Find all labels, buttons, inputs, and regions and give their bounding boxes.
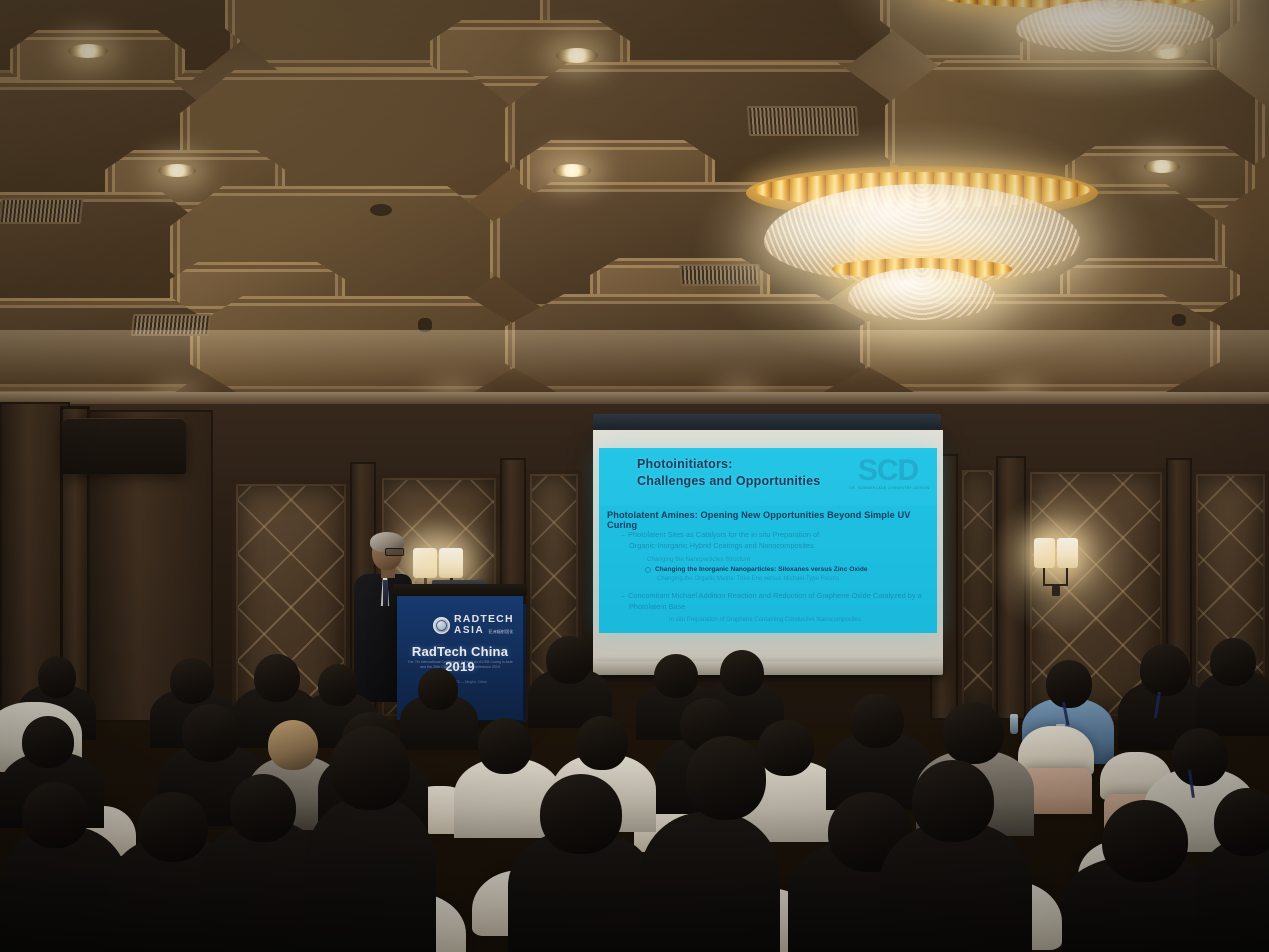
audience-head bbox=[942, 702, 1004, 764]
ceiling-vent bbox=[0, 198, 83, 224]
screen-surface: Photoinitiators: Challenges and Opportun… bbox=[593, 430, 943, 667]
audience bbox=[0, 640, 1269, 952]
ceiling-downlight bbox=[68, 44, 108, 58]
audience-head bbox=[912, 760, 994, 842]
ceiling-downlight bbox=[158, 164, 196, 177]
audience-head bbox=[576, 716, 628, 770]
ceiling-dome-speaker bbox=[1172, 314, 1186, 326]
wall-sconce bbox=[1032, 530, 1090, 600]
audience-head bbox=[1172, 728, 1228, 786]
presenter-logo: SCD DR. SOMMERLADE CHEMISTRY DESIGN bbox=[849, 456, 927, 498]
audience-head bbox=[686, 736, 766, 820]
audience-head bbox=[254, 654, 300, 702]
audience-head bbox=[478, 718, 532, 774]
logo-radtech-text: RADTECH bbox=[454, 614, 514, 625]
audience-head bbox=[654, 654, 698, 698]
ceiling-dome-speaker bbox=[370, 204, 392, 216]
pa-speaker bbox=[62, 418, 186, 474]
eyeglasses-icon bbox=[385, 548, 404, 556]
audience-head bbox=[1210, 638, 1256, 686]
audience-head bbox=[1102, 800, 1188, 882]
audience-head bbox=[758, 720, 814, 776]
slide-bullet: –Concomitant Michael Addition Reaction a… bbox=[621, 591, 931, 601]
audience-head bbox=[1214, 788, 1269, 856]
ceiling-downlight bbox=[556, 48, 598, 63]
audience-head bbox=[38, 656, 76, 698]
slide-bullet: Photolatent Base bbox=[629, 602, 931, 612]
audience-head bbox=[540, 774, 622, 854]
bullet-dash-icon: – bbox=[621, 591, 628, 601]
globe-icon bbox=[433, 617, 450, 634]
audience-head bbox=[850, 694, 904, 748]
slide-bullet: Organic-Inorganic Hybrid Coatings and Na… bbox=[629, 541, 931, 551]
slide-bullet: In situ Preparation of Graphene Containi… bbox=[669, 616, 931, 625]
slide-title-line2: Challenges and Opportunities bbox=[637, 473, 820, 490]
conference-photo-scene: Photoinitiators: Challenges and Opportun… bbox=[0, 0, 1269, 952]
audience-head bbox=[418, 668, 458, 710]
chandelier-main bbox=[740, 158, 1110, 330]
logo-mark-text: SCD bbox=[849, 456, 927, 486]
slide-bullet: Changing the Organic Matrix: Thiol-Ene v… bbox=[657, 575, 931, 584]
slide-title: Photoinitiators: Challenges and Opportun… bbox=[637, 456, 820, 490]
slide-subtitle: Photolatent Amines: Opening New Opportun… bbox=[607, 510, 931, 530]
speaker-tie bbox=[383, 580, 388, 606]
bullet-dash-icon: – bbox=[621, 530, 628, 540]
podium-lamp-right bbox=[439, 548, 463, 578]
slide-bullet: Changing the Nanoparticles Structure bbox=[647, 555, 931, 564]
audience-head bbox=[720, 650, 764, 696]
logo-asia-text: ASIA 亚洲辐射固化 bbox=[454, 625, 514, 636]
audience-head bbox=[330, 726, 410, 810]
radtech-asia-logo: RADTECH ASIA 亚洲辐射固化 bbox=[433, 614, 514, 636]
ceiling-vent bbox=[747, 106, 859, 136]
audience-head bbox=[138, 792, 208, 862]
slide-bullet-list: –Photolatent Sites as Catalysts for the … bbox=[607, 530, 931, 632]
audience-head bbox=[1140, 644, 1190, 696]
audience-head bbox=[182, 704, 240, 762]
audience-head bbox=[170, 658, 214, 704]
audience-head bbox=[318, 664, 358, 706]
water-bottle bbox=[1010, 714, 1018, 734]
podium-top-surface bbox=[393, 584, 527, 596]
ceiling-downlight bbox=[553, 164, 591, 177]
audience-head bbox=[22, 716, 74, 768]
audience-head bbox=[22, 782, 88, 848]
presentation-slide: Photoinitiators: Challenges and Opportun… bbox=[599, 448, 937, 633]
logo-tagline: DR. SOMMERLADE CHEMISTRY DESIGN bbox=[849, 486, 927, 490]
chandelier-secondary bbox=[866, 0, 1269, 54]
podium-lamp-left bbox=[413, 548, 437, 578]
audience-head bbox=[1046, 660, 1092, 708]
ceiling-downlight bbox=[1144, 160, 1180, 173]
audience-head bbox=[546, 636, 592, 684]
bullet-ring-icon bbox=[645, 567, 651, 573]
slide-bullet-highlight: Changing the Inorganic Nanoparticles: Si… bbox=[655, 565, 931, 574]
slide-bullet: –Photolatent Sites as Catalysts for the … bbox=[621, 530, 931, 540]
audience-head bbox=[230, 774, 296, 842]
slide-title-line1: Photoinitiators: bbox=[637, 456, 820, 473]
audience-head bbox=[268, 720, 318, 770]
